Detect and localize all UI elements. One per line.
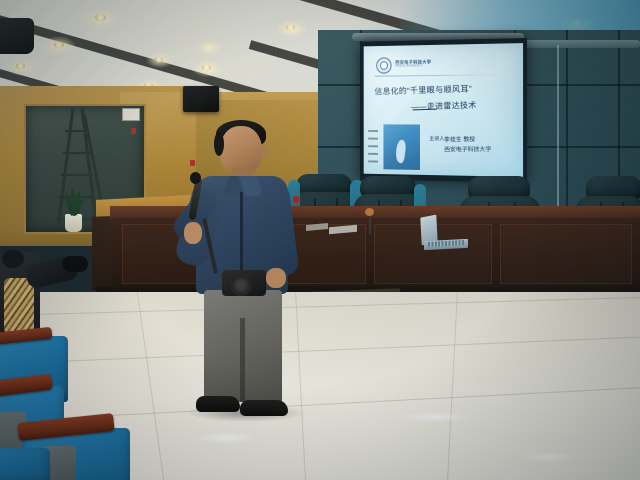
- wall-rail: [520, 40, 640, 48]
- presenter-right-hand: [266, 268, 286, 288]
- desk-microphone-stand: [369, 214, 371, 234]
- audience-member-shoe: [62, 256, 88, 272]
- camera-icon: [222, 270, 266, 296]
- presenter-ear: [260, 146, 268, 158]
- presenter-left-hand: [184, 222, 202, 244]
- projection-screen: 西安电子科技大学 XIDIAN UNIVERSITY 信息化的“千里眼与顺风耳”…: [360, 38, 527, 183]
- wall-indicator-icon: [131, 128, 136, 134]
- microphone-head-icon: [190, 172, 201, 184]
- presenter-leg-seam: [240, 318, 245, 402]
- speaker-cone-icon: [197, 93, 204, 105]
- audience-member-head: [2, 250, 24, 268]
- lecture-hall-photo: 西安电子科技大学 XIDIAN UNIVERSITY 信息化的“千里眼与顺风耳”…: [0, 0, 640, 480]
- screen-glare: [364, 43, 523, 177]
- presenter-left-shoe: [196, 396, 240, 412]
- wall-sign: [122, 108, 140, 121]
- slide-surface: 西安电子科技大学 XIDIAN UNIVERSITY 信息化的“千里眼与顺风耳”…: [364, 43, 523, 177]
- camera-lens-icon: [230, 274, 252, 296]
- presenter-hair-side: [214, 132, 224, 156]
- presenter-right-shoe: [240, 400, 288, 416]
- audience-member-garment: [4, 278, 34, 334]
- ceiling-equipment: [0, 18, 34, 54]
- presenter: [178, 118, 308, 428]
- desk-microphone-icon: [365, 208, 374, 216]
- wall-speaker-icon: [183, 86, 219, 112]
- potted-plant: [65, 214, 82, 232]
